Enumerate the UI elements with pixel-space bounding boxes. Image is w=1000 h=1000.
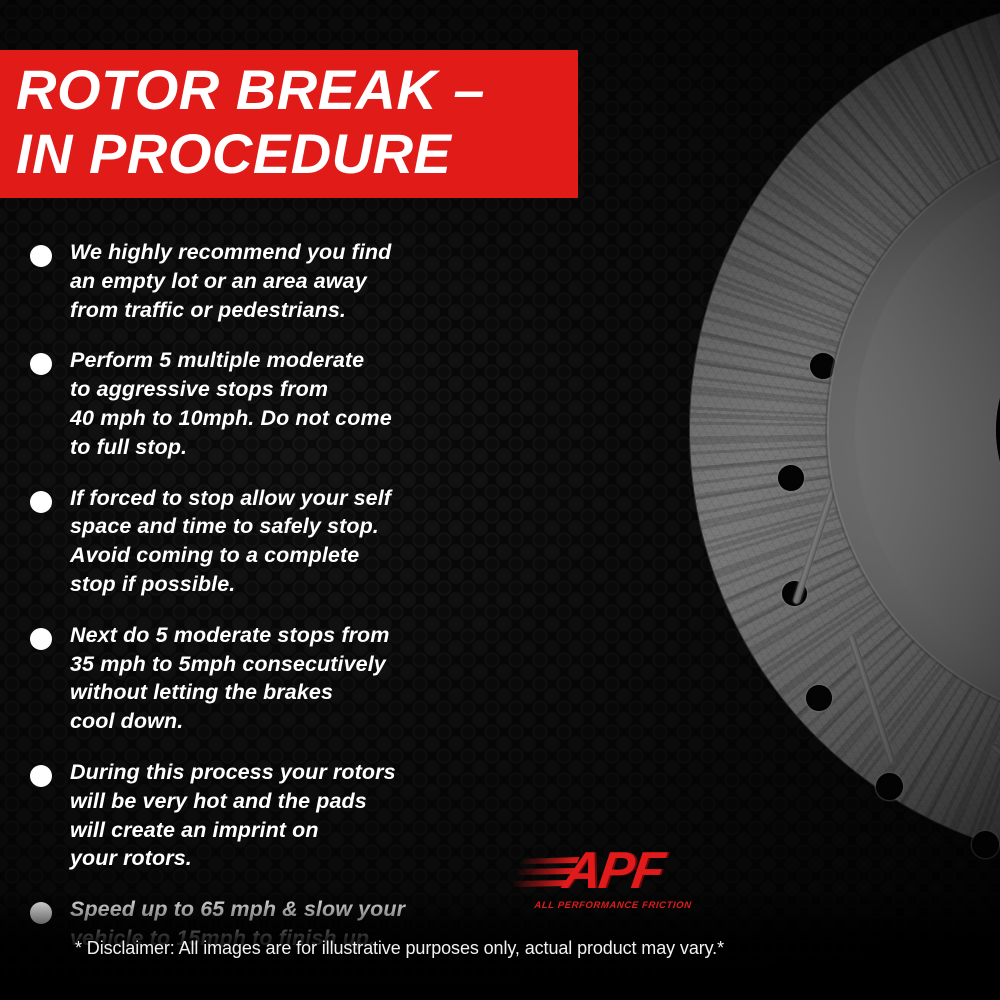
list-item: Next do 5 moderate stops from 35 mph to … [30, 621, 530, 736]
page-title-line1: ROTOR BREAK – [0, 58, 578, 122]
bullet-dot-icon [30, 491, 52, 513]
list-item-text: Perform 5 multiple moderate to aggressiv… [70, 346, 392, 461]
page-title-line2: IN PROCEDURE [0, 122, 578, 186]
list-item: If forced to stop allow your self space … [30, 484, 530, 599]
speed-lines-icon [510, 857, 580, 887]
list-item: During this process your rotors will be … [30, 758, 530, 873]
list-item: We highly recommend you find an empty lo… [30, 238, 530, 324]
list-item: Perform 5 multiple moderate to aggressiv… [30, 346, 530, 461]
list-item-text: If forced to stop allow your self space … [70, 484, 391, 599]
disclaimer-text: * Disclaimer: All images are for illustr… [75, 938, 724, 959]
bullet-dot-icon [30, 353, 52, 375]
bullet-dot-icon [30, 765, 52, 787]
list-item-text: During this process your rotors will be … [70, 758, 396, 873]
list-item-text: Next do 5 moderate stops from 35 mph to … [70, 621, 390, 736]
bullet-dot-icon [30, 245, 52, 267]
apf-wordmark-text: APF [560, 842, 666, 900]
bullet-dot-icon [30, 628, 52, 650]
apf-wordmark: APF [524, 845, 701, 897]
apf-tagline: ALL PERFORMANCE FRICTION [527, 900, 698, 911]
title-banner: ROTOR BREAK – IN PROCEDURE [0, 50, 578, 198]
apf-logo: APF ALL PERFORMANCE FRICTION [528, 845, 698, 911]
list-item-text: We highly recommend you find an empty lo… [70, 238, 391, 324]
procedure-list: We highly recommend you find an empty lo… [30, 238, 530, 975]
infographic-page: ROTOR BREAK – IN PROCEDURE We highly rec… [0, 0, 1000, 1000]
